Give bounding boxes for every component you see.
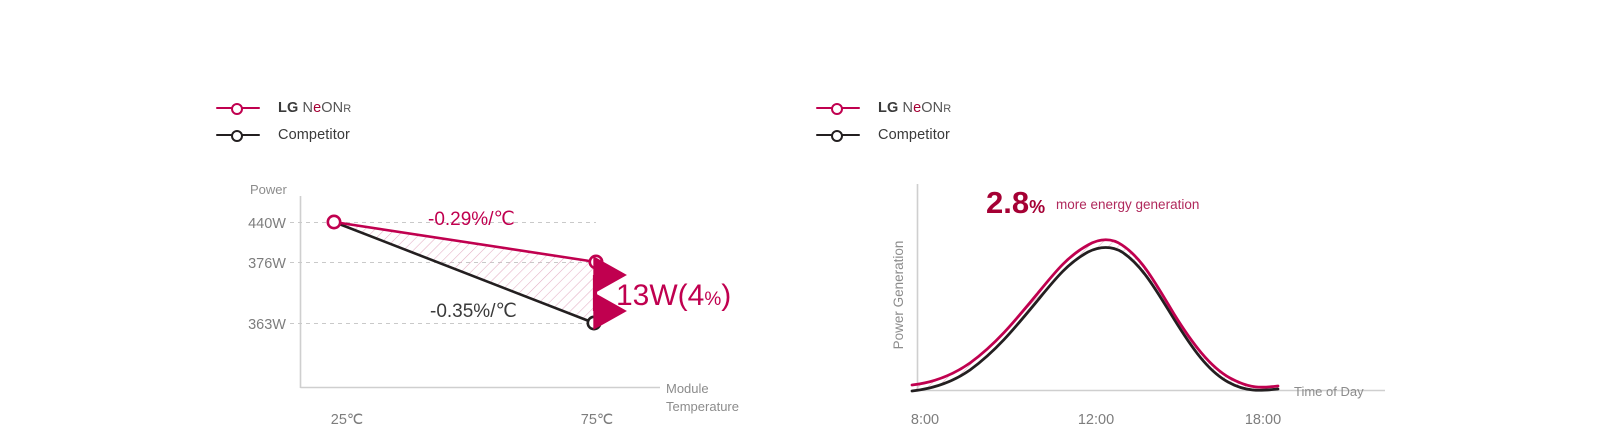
x-tick-75c: 75℃ xyxy=(581,412,613,428)
x-tick-1800: 18:00 xyxy=(1245,412,1281,428)
data-point-start xyxy=(328,216,340,228)
annotation-headline: 2.8% xyxy=(986,185,1045,220)
x-axis-title-line1: Module xyxy=(666,381,709,396)
chart-daily-power-generation: 2.8% more energy generation Power Genera… xyxy=(800,0,1600,444)
data-point-competitor-75c xyxy=(588,317,600,329)
annotation-headline-percent: % xyxy=(1029,197,1045,217)
y-tick-363w: 363W xyxy=(248,317,286,333)
annotation-delta: 13W(4%) xyxy=(616,279,731,312)
series-curve-lg-neonr xyxy=(912,240,1278,388)
infographic-canvas: LG NeONR Competitor xyxy=(0,0,1600,444)
annotation-slope-competitor: -0.35%/℃ xyxy=(430,301,517,322)
x-axis-title: Time of Day xyxy=(1294,384,1364,399)
annotation-delta-close: ) xyxy=(721,279,731,312)
x-tick-25c: 25℃ xyxy=(331,412,363,428)
x-tick-0800: 8:00 xyxy=(911,412,939,428)
x-tick-1200: 12:00 xyxy=(1078,412,1114,428)
y-tick-440w: 440W xyxy=(248,216,286,232)
difference-area-hatch xyxy=(912,240,1278,391)
x-axis-title-line2: Temperature xyxy=(666,399,739,414)
y-axis-title: Power xyxy=(250,182,288,197)
annotation-slope-lg: -0.29%/℃ xyxy=(428,209,515,230)
panel-daily-power-generation: LG NeONR Competitor xyxy=(800,0,1600,444)
y-axis-title: Power Generation xyxy=(891,241,906,350)
panel-power-vs-temperature: LG NeONR Competitor xyxy=(0,0,800,444)
annotation-delta-value: 13W(4 xyxy=(616,279,704,312)
chart-power-vs-temperature: Power 440W 376W 363W 25℃ 75℃ Module Temp… xyxy=(0,0,800,444)
annotation-delta-percent: % xyxy=(704,289,721,310)
annotation-headline-note: more energy generation xyxy=(1056,197,1199,212)
annotation-headline-value: 2.8 xyxy=(986,185,1029,220)
data-point-lg-75c xyxy=(590,256,602,268)
y-tick-376w: 376W xyxy=(248,256,286,272)
